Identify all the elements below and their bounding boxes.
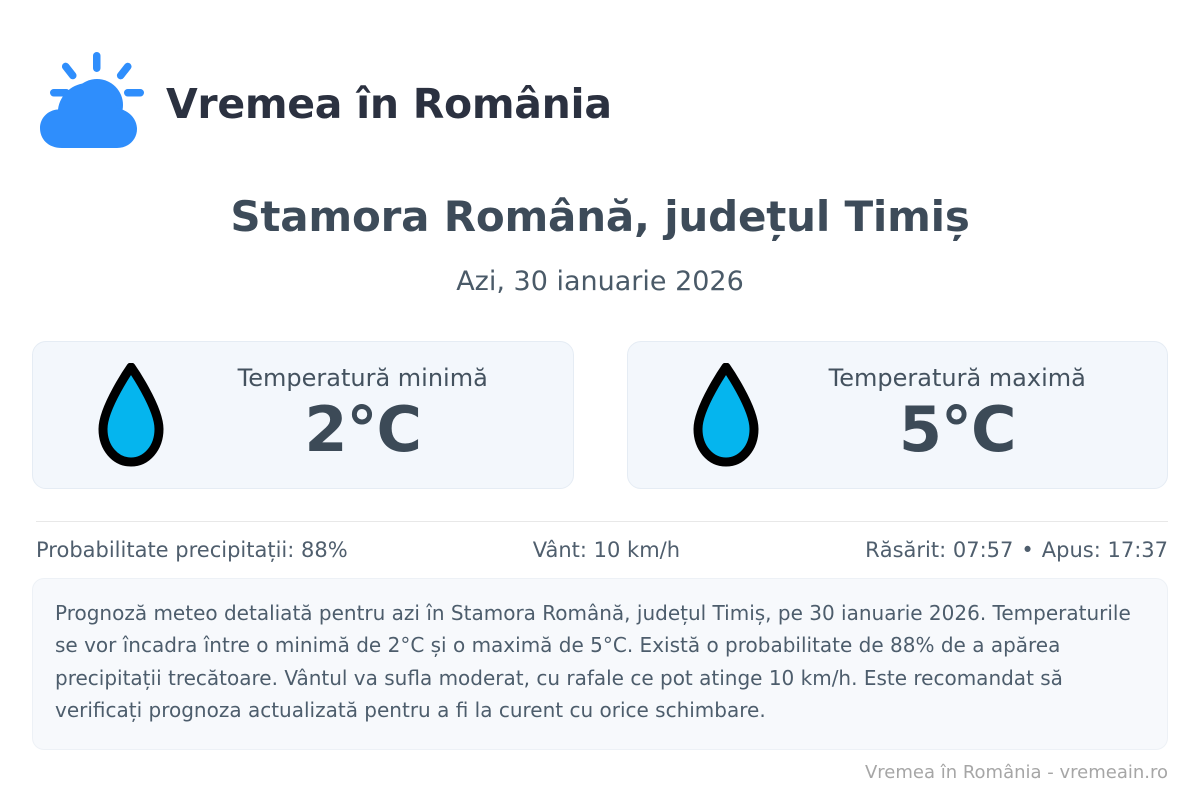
min-temperature-body: Temperatură minimă 2°C (193, 365, 533, 465)
precipitation-stat: Probabilitate precipitații: 88% (36, 538, 348, 562)
max-temperature-card: Temperatură maximă 5°C (627, 341, 1169, 489)
weather-page: Vremea în România Stamora Română, județu… (0, 0, 1200, 800)
max-temperature-label: Temperatură maximă (829, 365, 1086, 391)
site-logo-text: Vremea în România (166, 82, 612, 126)
min-temperature-label: Temperatură minimă (238, 365, 488, 391)
min-temperature-value: 2°C (304, 394, 421, 465)
sun-times-stat: Răsărit: 07:57•Apus: 17:37 (865, 538, 1168, 562)
weather-stats-row: Probabilitate precipitații: 88% Vânt: 10… (36, 538, 1168, 562)
sun-separator: • (1013, 538, 1041, 562)
sunset-value: Apus: 17:37 (1042, 538, 1168, 562)
min-temperature-card: Temperatură minimă 2°C (32, 341, 574, 489)
sun-cloud-icon (36, 50, 148, 158)
forecast-description: Prognoză meteo detaliată pentru azi în S… (32, 578, 1168, 750)
wind-stat: Vânt: 10 km/h (348, 538, 865, 562)
max-temperature-value: 5°C (899, 394, 1016, 465)
sunrise-value: Răsărit: 07:57 (865, 538, 1013, 562)
footer-credit: Vremea în România - vremeain.ro (0, 762, 1168, 783)
page-date: Azi, 30 ianuarie 2026 (0, 266, 1200, 297)
water-drop-icon (95, 363, 167, 467)
temperature-cards: Temperatură minimă 2°C Temperatură maxim… (32, 341, 1168, 489)
page-title: Stamora Română, județul Timiș (0, 192, 1200, 241)
site-logo[interactable]: Vremea în România (36, 50, 612, 158)
water-drop-icon (690, 363, 762, 467)
max-temperature-body: Temperatură maximă 5°C (788, 365, 1128, 465)
stats-divider (36, 521, 1168, 522)
